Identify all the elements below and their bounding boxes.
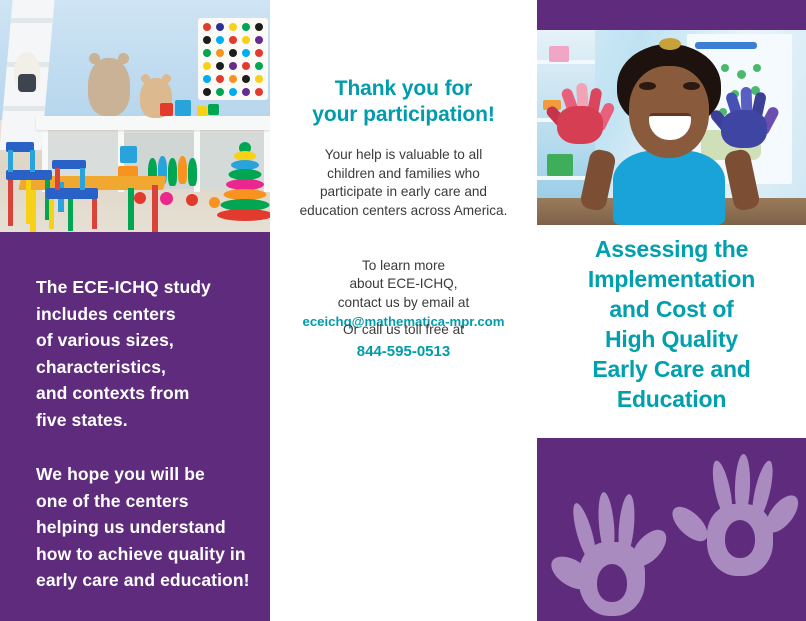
phone-intro-text: Or call us toll free at xyxy=(343,322,464,337)
playroom-shelf-top xyxy=(36,116,270,130)
child-eye-right xyxy=(683,82,700,90)
child-hair-tuft xyxy=(659,38,681,50)
right-panel: Assessing the Implementation and Cost of… xyxy=(537,0,806,621)
handprint-right-icon xyxy=(677,448,793,584)
contact-intro-text: To learn more about ECE-ICHQ, contact us… xyxy=(338,258,469,310)
brochure-title: Assessing the Implementation and Cost of… xyxy=(545,234,798,414)
toy-pin-4 xyxy=(178,156,187,184)
left-panel: The ECE-ICHQ study includes centers of v… xyxy=(0,0,270,621)
toy-cube-green xyxy=(208,104,219,115)
thank-you-heading: Thank you for your participation! xyxy=(280,76,527,128)
classroom-bin-pink xyxy=(549,46,569,62)
toy-pin-5 xyxy=(188,158,197,186)
toy-ball-orange xyxy=(209,197,220,208)
right-top-purple-band xyxy=(537,0,806,30)
teddy-bear-large xyxy=(88,58,130,116)
toy-cube-red xyxy=(160,103,173,116)
shelf-cube-blue xyxy=(120,146,137,163)
child-hand-red-paint xyxy=(551,82,609,144)
handprint-left-icon xyxy=(553,480,669,616)
phone-number[interactable]: 844-595-0513 xyxy=(286,342,521,361)
child-hand-blue-paint xyxy=(715,86,773,148)
participation-blurb: Your help is valuable to all children an… xyxy=(276,146,531,220)
brochure-page: The ECE-ICHQ study includes centers of v… xyxy=(0,0,806,621)
toy-pin-3 xyxy=(168,158,177,186)
left-paragraph-1: The ECE-ICHQ study includes centers of v… xyxy=(36,274,258,433)
left-paragraph-2: We hope you will be one of the centers h… xyxy=(36,461,258,594)
child-face xyxy=(629,66,709,158)
phone-block: Or call us toll free at 844-595-0513 xyxy=(286,320,521,361)
playroom-photo xyxy=(0,0,270,232)
left-panel-text: The ECE-ICHQ study includes centers of v… xyxy=(36,274,258,594)
child-eye-left xyxy=(639,82,656,90)
toy-ball-red-2 xyxy=(186,194,198,206)
classroom-bin-green xyxy=(547,154,573,176)
toy-cube-yellow xyxy=(197,106,207,116)
playroom-doll xyxy=(14,52,40,92)
center-panel: Thank you for your participation! Your h… xyxy=(270,0,537,621)
toy-ball-red xyxy=(134,192,146,204)
kids-chair-seat-2 xyxy=(46,188,98,199)
child-shirt xyxy=(613,150,725,225)
toy-cube-blue xyxy=(175,100,191,116)
playroom-pillow xyxy=(198,18,268,100)
toy-ball-pink xyxy=(160,192,173,205)
child-painting-photo xyxy=(537,30,806,225)
handprints-panel xyxy=(537,438,806,621)
stacking-ring-toy xyxy=(216,142,270,220)
